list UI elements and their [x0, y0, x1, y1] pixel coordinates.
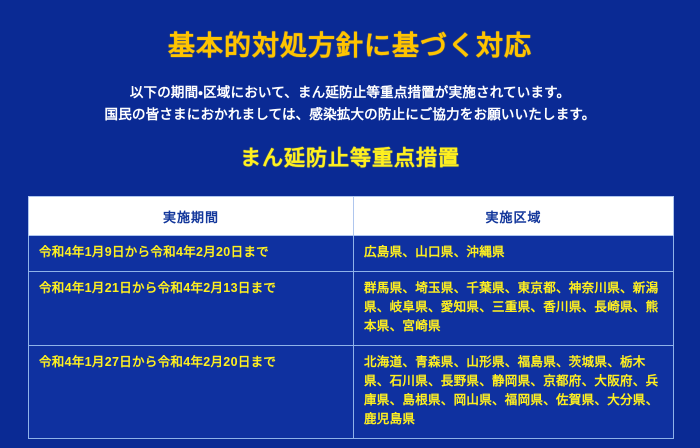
cell-areas: 群馬県、埼玉県、千葉県、東京都、神奈川県、新潟県、岐阜県、愛知県、三重県、香川県… [354, 272, 674, 346]
lead-line-2: 国民の皆さまにおかれましては、感染拡大の防止にご協力をお願いいたします。 [0, 104, 700, 126]
cell-areas: 北海道、青森県、山形県、福島県、茨城県、栃木県、石川県、長野県、静岡県、京都府、… [354, 346, 674, 439]
cell-period: 令和4年1月27日から令和4年2月20日まで [29, 346, 354, 439]
lead-paragraph: 以下の期間・区域において、まん延防止等重点措置が実施されています。 国民の皆さま… [0, 82, 700, 126]
table-header-row: 実施期間 実施区域 [29, 197, 674, 236]
measures-table: 実施期間 実施区域 令和4年1月9日から令和4年2月20日まで 広島県、山口県、… [28, 196, 674, 439]
column-header-area: 実施区域 [354, 197, 674, 236]
table-row: 令和4年1月9日から令和4年2月20日まで 広島県、山口県、沖縄県 [29, 236, 674, 272]
cell-period: 令和4年1月9日から令和4年2月20日まで [29, 236, 354, 272]
measures-table-container: 実施期間 実施区域 令和4年1月9日から令和4年2月20日まで 広島県、山口県、… [28, 196, 673, 439]
section-title: まん延防止等重点措置 [0, 142, 700, 172]
cell-areas: 広島県、山口県、沖縄県 [354, 236, 674, 272]
page-title: 基本的対処方針に基づく対応 [0, 18, 700, 64]
announcement-page: 基本的対処方針に基づく対応 以下の期間・区域において、まん延防止等重点措置が実施… [0, 18, 700, 448]
cell-period: 令和4年1月21日から令和4年2月13日まで [29, 272, 354, 346]
table-row: 令和4年1月21日から令和4年2月13日まで 群馬県、埼玉県、千葉県、東京都、神… [29, 272, 674, 346]
table-row: 令和4年1月27日から令和4年2月20日まで 北海道、青森県、山形県、福島県、茨… [29, 346, 674, 439]
column-header-period: 実施期間 [29, 197, 354, 236]
lead-line-1: 以下の期間・区域において、まん延防止等重点措置が実施されています。 [0, 82, 700, 104]
